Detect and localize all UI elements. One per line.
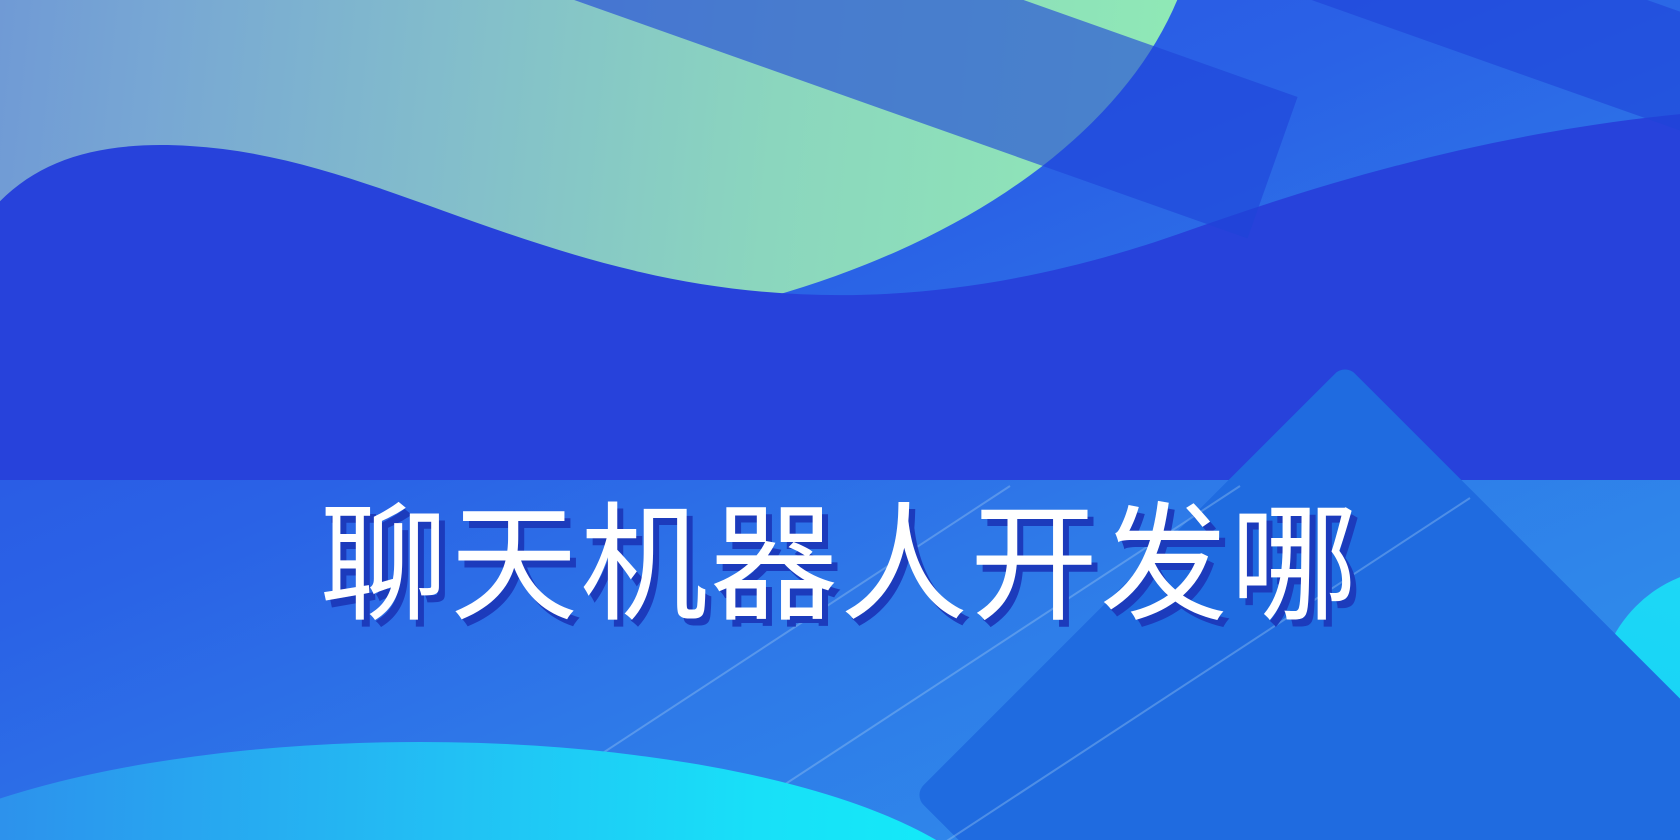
angled-bar-back-decoration <box>550 0 1298 238</box>
page-title: 聊天机器人开发哪 家性价比高 <box>0 236 1680 840</box>
angled-bar-front-decoration <box>1003 0 1680 144</box>
headline-line-1: 聊天机器人开发哪 <box>0 500 1680 632</box>
poster-canvas: 聊天机器人开发哪 家性价比高 <box>0 0 1680 840</box>
